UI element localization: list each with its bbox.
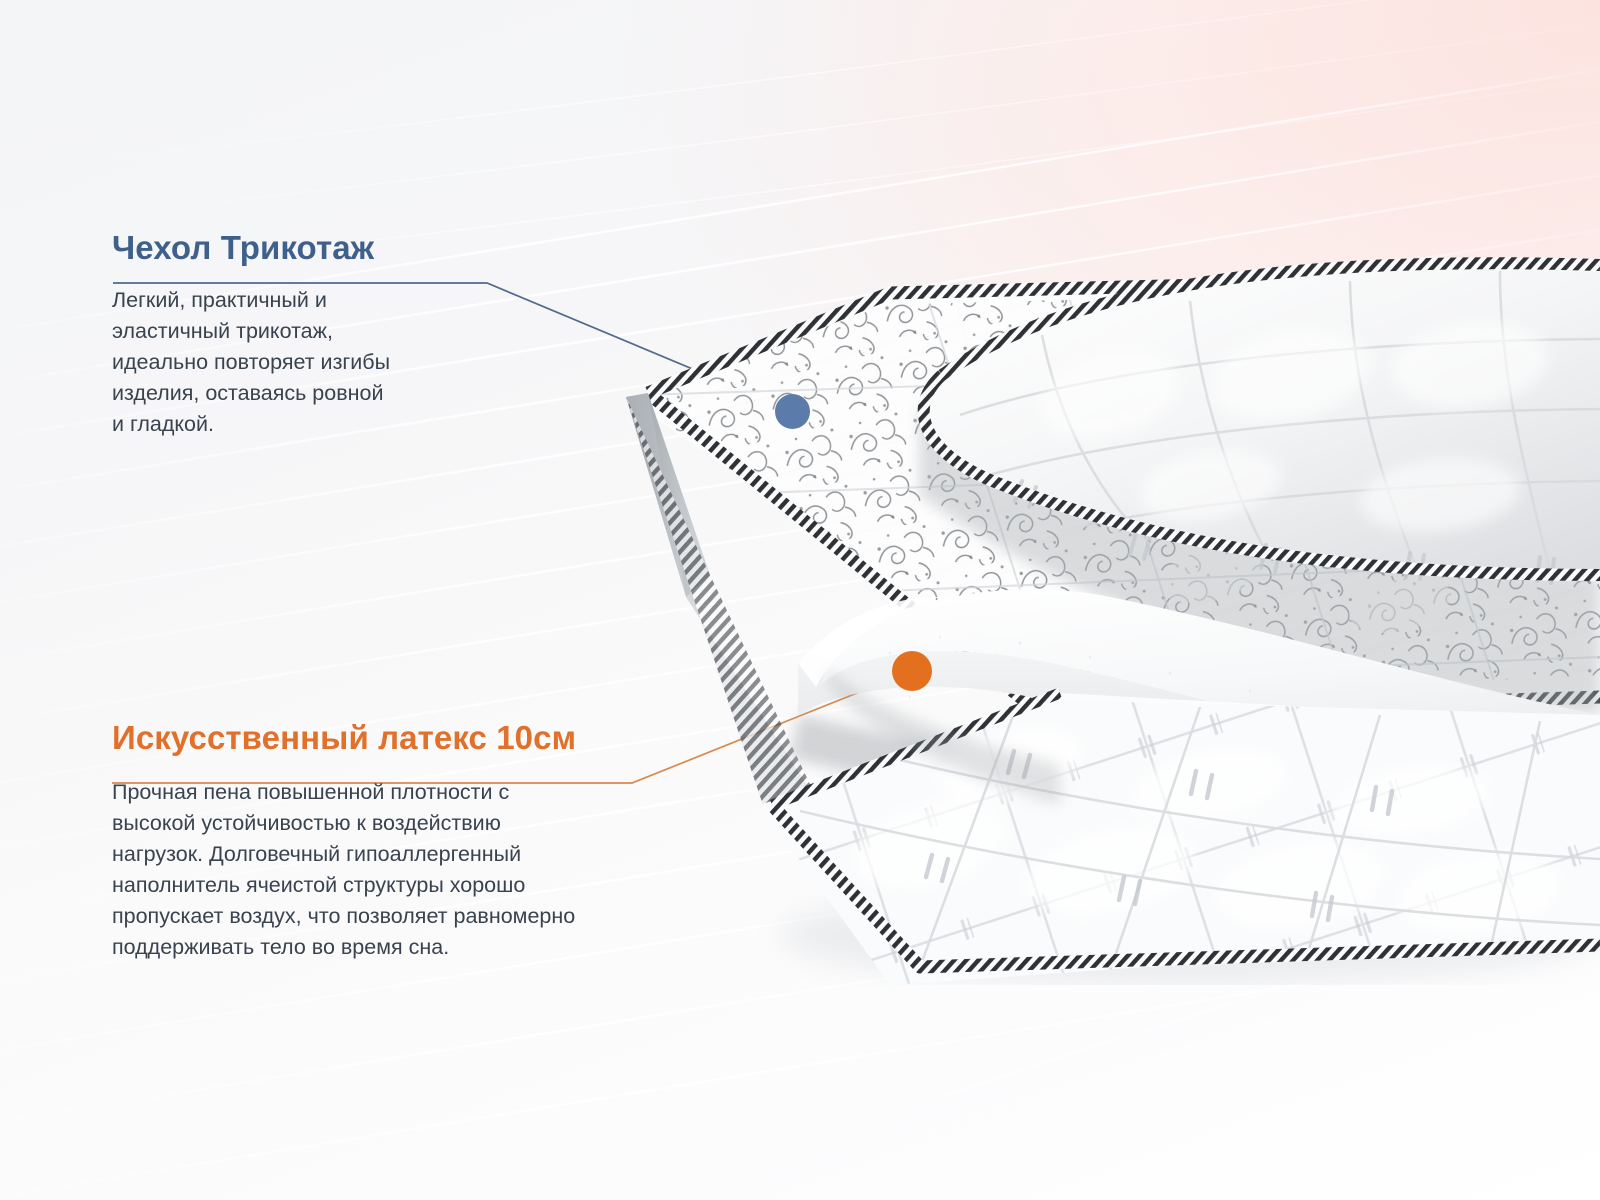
callout-latex-title: Искусственный латекс 10см	[112, 718, 672, 758]
callout-cover-body: Легкий, практичный и эластичный трикотаж…	[112, 285, 542, 440]
mattress-cutaway-illustration	[590, 245, 1600, 985]
latex-marker-dot[interactable]	[892, 651, 932, 691]
callout-cover-title: Чехол Трикотаж	[112, 228, 542, 268]
infographic-canvas: Чехол Трикотаж Легкий, практичный и элас…	[0, 0, 1600, 1200]
callout-latex-body: Прочная пена повышенной плотности с высо…	[112, 777, 672, 963]
cover-marker-dot[interactable]	[775, 394, 810, 429]
callout-cover: Чехол Трикотаж Легкий, практичный и элас…	[112, 228, 542, 440]
callout-latex: Искусственный латекс 10см Прочная пена п…	[112, 718, 672, 963]
